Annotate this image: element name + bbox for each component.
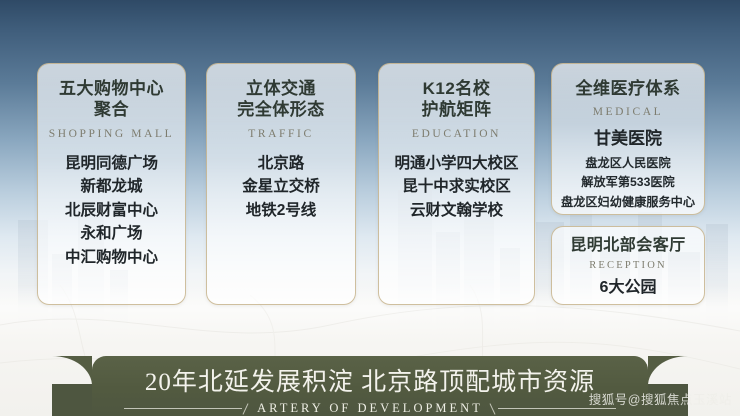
card-title-cn: K12名校 护航矩阵 [379,78,534,121]
tick-right-icon [489,404,498,414]
card-title-cn: 昆明北部会客厅 [552,236,704,256]
poster-canvas: 五大购物中心 聚合 SHOPPING MALL 昆明同德广场 新都龙城 北辰财富… [0,0,740,416]
banner-right-wing [648,356,688,386]
card-title-en: RECEPTION [552,260,704,271]
banner-subtitle: ARTERY OF DEVELOPMENT [251,401,489,416]
list-item: 北京路 [207,152,355,176]
banner-left-wing [52,356,92,386]
card-title-en: TRAFFIC [207,128,355,140]
card-shopping-mall[interactable]: 五大购物中心 聚合 SHOPPING MALL 昆明同德广场 新都龙城 北辰财富… [37,63,186,305]
card-reception[interactable]: 昆明北部会客厅 RECEPTION 6大公园 [551,226,705,305]
card-title-en: SHOPPING MALL [38,128,185,140]
list-item: 新都龙城 [38,175,185,199]
list-item: 地铁2号线 [207,199,355,223]
card-item-list: 北京路 金星立交桥 地铁2号线 [207,152,355,223]
list-item: 解放军第533医院 [552,173,704,193]
watermark-text: 搜狐号@搜狐焦点玉溪站 [589,389,732,408]
rule-right [498,408,616,409]
card-traffic[interactable]: 立体交通 完全体形态 TRAFFIC 北京路 金星立交桥 地铁2号线 [206,63,356,305]
list-item: 北辰财富中心 [38,199,185,223]
list-item: 盘龙区妇幼健康服务中心 [552,193,704,213]
list-item: 云财文翰学校 [379,199,534,223]
card-item-list: 昆明同德广场 新都龙城 北辰财富中心 永和广场 中汇购物中心 [38,152,185,270]
list-item: 昆十中求实校区 [379,175,534,199]
list-item: 金星立交桥 [207,175,355,199]
bottom-banner: 20年北延发展积淀 北京路顶配城市资源 ARTERY OF DEVELOPMEN… [92,356,648,416]
card-item-list: 盘龙区人民医院 解放军第533医院 盘龙区妇幼健康服务中心 [552,154,704,213]
card-lead-item: 甘美医院 [552,127,704,151]
card-title-en: EDUCATION [379,128,534,140]
list-item: 永和广场 [38,222,185,246]
list-item: 明通小学四大校区 [379,152,534,176]
banner-title: 20年北延发展积淀 北京路顶配城市资源 [92,356,648,398]
tick-left-icon [242,404,251,414]
card-medical[interactable]: 全维医疗体系 MEDICAL 甘美医院 盘龙区人民医院 解放军第533医院 盘龙… [551,63,705,215]
card-title-en: MEDICAL [552,106,704,118]
list-item: 昆明同德广场 [38,152,185,176]
card-lead-item: 6大公园 [552,277,704,300]
card-title-cn: 五大购物中心 聚合 [38,78,185,121]
list-item: 中汇购物中心 [38,246,185,270]
rule-left [124,408,242,409]
banner-subtitle-row: ARTERY OF DEVELOPMENT [92,401,648,416]
card-title-cn: 全维医疗体系 [552,78,704,99]
card-item-list: 明通小学四大校区 昆十中求实校区 云财文翰学校 [379,152,534,223]
list-item: 盘龙区人民医院 [552,154,704,174]
card-education[interactable]: K12名校 护航矩阵 EDUCATION 明通小学四大校区 昆十中求实校区 云财… [378,63,535,305]
card-title-cn: 立体交通 完全体形态 [207,78,355,121]
